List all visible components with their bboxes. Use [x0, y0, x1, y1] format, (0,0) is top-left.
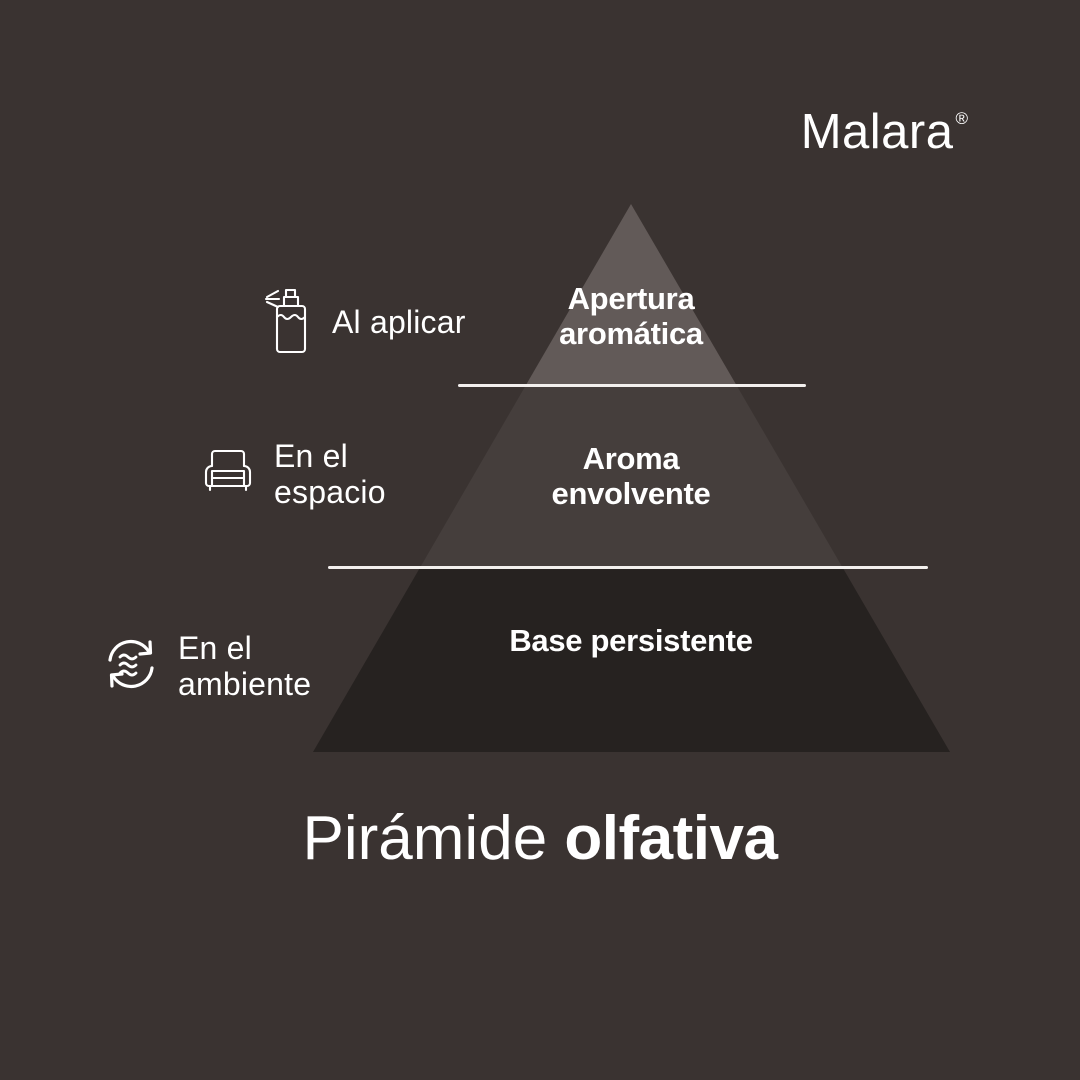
armchair-icon — [200, 444, 256, 505]
brand-logo: Malara ® — [801, 108, 968, 157]
air-circulation-icon — [102, 635, 160, 698]
registered-trademark-icon: ® — [955, 110, 968, 127]
infographic-canvas: Malara ® Apertura aromática Aroma envolv… — [0, 0, 1080, 1080]
tier-label-middle: Aroma envolvente — [351, 442, 911, 511]
stage-row-ambient: En el ambiente — [102, 630, 311, 703]
spray-bottle-icon — [262, 286, 314, 359]
brand-name: Malara — [801, 108, 954, 157]
tier-label-base: Base persistente — [351, 624, 911, 659]
stage-row-apply: Al aplicar — [262, 286, 466, 359]
stage-label-space: En el espacio — [274, 438, 386, 511]
page-title: Pirámide olfativa — [0, 805, 1080, 873]
stage-row-space: En el espacio — [200, 438, 386, 511]
page-title-light: Pirámide — [303, 804, 565, 873]
tier-divider-upper — [458, 384, 806, 387]
pyramid-graphic — [0, 0, 1080, 1080]
tier-divider-lower — [328, 566, 928, 569]
page-title-bold: olfativa — [564, 804, 777, 873]
stage-label-ambient: En el ambiente — [178, 630, 311, 703]
stage-label-apply: Al aplicar — [332, 304, 466, 340]
